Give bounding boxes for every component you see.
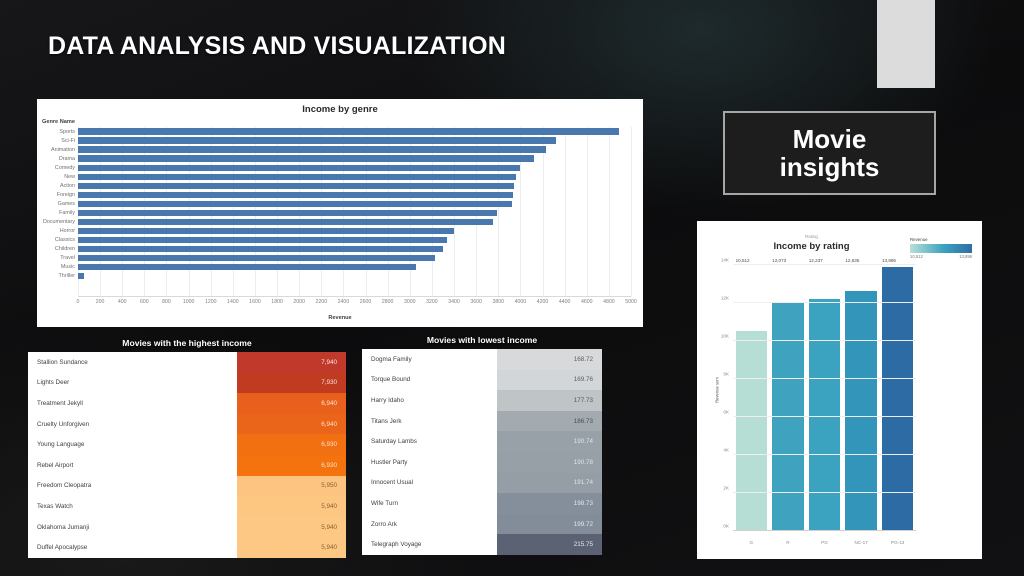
rating-legend-ticks: 10,512 13,896 — [910, 254, 972, 259]
page-title: DATA ANALYSIS AND VISUALIZATION — [48, 32, 506, 61]
genre-bar-row: Horror — [78, 227, 631, 236]
genre-xtick-label: 4600 — [581, 299, 593, 305]
genre-xtick-label: 600 — [140, 299, 149, 305]
table-cell-title: Freedom Cleopatra — [28, 476, 237, 497]
table-row: Telegraph Voyage215.75 — [362, 534, 602, 555]
genre-bar — [78, 137, 556, 143]
genre-category-label: Comedy — [55, 165, 75, 171]
genre-xtick-label: 2400 — [338, 299, 350, 305]
genre-category-label: Music — [61, 264, 75, 270]
rating-gridline — [733, 378, 916, 379]
table-cell-title: Cruelty Unforgiven — [28, 414, 237, 435]
table-cell-value: 7,940 — [237, 352, 346, 373]
genre-category-label: Drama — [59, 156, 75, 162]
genre-xaxis-ticks: 0200400600800100012001400160018002000220… — [78, 299, 631, 309]
genre-xtick-label: 400 — [118, 299, 127, 305]
table-cell-value: 198.73 — [497, 493, 602, 514]
table-cell-value: 186.73 — [497, 411, 602, 432]
genre-bar-row: Classics — [78, 236, 631, 245]
slide-canvas: DATA ANALYSIS AND VISUALIZATION Movie in… — [0, 0, 1024, 576]
table-row: Freedom Cleopatra5,950 — [28, 476, 346, 497]
rating-yaxis-label: Revenue sum — [714, 377, 719, 403]
movie-insights-callout: Movie insights — [723, 111, 936, 195]
rating-bar-value-label: 12,237 — [809, 258, 823, 263]
genre-bar — [78, 246, 443, 252]
genre-xtick-label: 3600 — [470, 299, 482, 305]
rating-ytick-label: 14K — [721, 258, 729, 263]
table-row: Stallion Sundance7,940 — [28, 352, 346, 373]
rating-legend: Revenue 10,512 13,896 — [910, 237, 972, 259]
rating-ytick-label: 2K — [723, 486, 729, 491]
rating-xtick-label: PG — [809, 540, 840, 545]
highest-income-table: Stallion Sundance7,940Lights Deer7,930Tr… — [28, 352, 346, 558]
genre-yaxis-label: Genre Name — [42, 119, 75, 125]
table-cell-title: Telegraph Voyage — [362, 534, 497, 555]
genre-xtick-label: 3800 — [492, 299, 504, 305]
table-cell-value: 5,940 — [237, 517, 346, 538]
table-cell-value: 190.78 — [497, 452, 602, 473]
table-row: Dogma Family168.72 — [362, 349, 602, 370]
table-cell-title: Wife Turn — [362, 493, 497, 514]
genre-bar-row: Family — [78, 208, 631, 217]
genre-category-label: Family — [59, 210, 75, 216]
rating-ytick-label: 12K — [721, 296, 729, 301]
genre-category-label: Animation — [51, 147, 75, 153]
table-cell-value: 5,940 — [237, 496, 346, 517]
rating-legend-gradient — [910, 244, 972, 253]
genre-bar — [78, 264, 416, 270]
genre-category-label: Children — [55, 246, 75, 252]
genre-bar — [78, 165, 520, 171]
genre-xtick-label: 1000 — [183, 299, 195, 305]
rating-ytick-label: 10K — [721, 334, 729, 339]
table-cell-title: Torque Bound — [362, 370, 497, 391]
rating-bar-value-label: 13,896 — [882, 258, 896, 263]
movie-insights-label: Movie insights — [780, 125, 880, 181]
genre-category-label: Thriller — [59, 273, 75, 279]
table-cell-title: Oklahoma Jumanji — [28, 517, 237, 538]
genre-bar-row: Sports — [78, 127, 631, 136]
table-row: Harry Idaho177.73 — [362, 390, 602, 411]
genre-chart-title: Income by genre — [37, 104, 643, 115]
genre-xtick-label: 2600 — [360, 299, 372, 305]
table-row: Innocent Usual191.74 — [362, 473, 602, 494]
genre-xtick-label: 5000 — [625, 299, 637, 305]
table-cell-title: Rebel Airport — [28, 455, 237, 476]
table-row: Texas Watch5,940 — [28, 496, 346, 517]
table-cell-title: Dogma Family — [362, 349, 497, 370]
table-row: Saturday Lambs190.74 — [362, 431, 602, 452]
table-cell-value: 6,930 — [237, 455, 346, 476]
table-row: Young Language6,930 — [28, 434, 346, 455]
genre-category-label: Foreign — [57, 192, 75, 198]
rating-legend-max: 13,896 — [959, 254, 972, 259]
genre-bar-row: Children — [78, 245, 631, 254]
genre-bar — [78, 146, 546, 152]
genre-bar-row: Sci-Fi — [78, 136, 631, 145]
table-cell-title: Duffel Apocalypse — [28, 537, 237, 558]
table-cell-title: Harry Idaho — [362, 390, 497, 411]
table-cell-value: 168.72 — [497, 349, 602, 370]
genre-bar-row: Travel — [78, 254, 631, 263]
genre-category-label: Games — [58, 201, 75, 207]
table-cell-title: Hustler Party — [362, 452, 497, 473]
genre-xtick-label: 3000 — [404, 299, 416, 305]
genre-bar — [78, 174, 516, 180]
genre-category-label: Documentary — [43, 219, 75, 225]
table-cell-value: 199.72 — [497, 514, 602, 535]
genre-bar — [78, 155, 534, 161]
genre-xtick-label: 3400 — [448, 299, 460, 305]
genre-bar — [78, 183, 514, 189]
genre-bar-row: Animation — [78, 145, 631, 154]
rating-ytick-label: 6K — [723, 410, 729, 415]
genre-bar-row: Music — [78, 263, 631, 272]
genre-category-label: Horror — [60, 228, 75, 234]
table-cell-value: 6,940 — [237, 393, 346, 414]
genre-xtick-label: 800 — [162, 299, 171, 305]
genre-bar — [78, 210, 497, 216]
genre-bar-row: Drama — [78, 154, 631, 163]
table-cell-value: 177.73 — [497, 390, 602, 411]
table-cell-title: Zorro Ark — [362, 514, 497, 535]
rating-xtick-label: R — [772, 540, 803, 545]
genre-bar-row: Action — [78, 181, 631, 190]
decorative-rectangle — [877, 0, 935, 88]
genre-axis-baseline — [78, 296, 631, 297]
genre-xtick-label: 1800 — [271, 299, 283, 305]
lowest-income-table: Dogma Family168.72Torque Bound169.76Harr… — [362, 349, 602, 555]
table-cell-value: 6,940 — [237, 414, 346, 435]
genre-xtick-label: 0 — [77, 299, 80, 305]
rating-chart-title: Income by rating — [697, 241, 926, 252]
genre-xtick-label: 200 — [96, 299, 105, 305]
rating-plot-area: 10,51212,07312,23712,63513,896 0K2K4K6K8… — [733, 265, 916, 531]
table-cell-value: 191.74 — [497, 473, 602, 494]
rating-ytick-label: 4K — [723, 448, 729, 453]
table-cell-value: 169.76 — [497, 370, 602, 391]
genre-bar — [78, 255, 435, 261]
genre-xaxis-label: Revenue — [37, 315, 643, 321]
genre-category-label: Action — [60, 183, 75, 189]
genre-bar-row: Thriller — [78, 272, 631, 281]
rating-gridline — [733, 492, 916, 493]
table-cell-title: Treatment Jekyll — [28, 393, 237, 414]
rating-gridline — [733, 340, 916, 341]
rating-axis-baseline — [733, 530, 916, 531]
genre-xtick-label: 2200 — [316, 299, 328, 305]
genre-bar-row: New — [78, 172, 631, 181]
table-row: Duffel Apocalypse5,940 — [28, 537, 346, 558]
table-cell-title: Lights Deer — [28, 373, 237, 394]
table-row: Torque Bound169.76 — [362, 370, 602, 391]
table-cell-title: Titans Jerk — [362, 411, 497, 432]
rating-xtick-label: NC-17 — [845, 540, 876, 545]
rating-legend-title: Revenue — [910, 237, 972, 242]
genre-xtick-label: 1200 — [205, 299, 217, 305]
genre-bar — [78, 237, 447, 243]
table-cell-value: 215.75 — [497, 534, 602, 555]
rating-bar: 12,635 — [845, 291, 876, 531]
income-by-genre-chart: Income by genre Genre Name SportsSci-FiA… — [37, 99, 643, 327]
genre-category-label: Sports — [59, 129, 75, 135]
genre-bar-row: Foreign — [78, 190, 631, 199]
genre-xtick-label: 1400 — [227, 299, 239, 305]
table-cell-value: 6,930 — [237, 434, 346, 455]
genre-bar-row: Comedy — [78, 163, 631, 172]
table-row: Oklahoma Jumanji5,940 — [28, 517, 346, 538]
rating-bar: 10,512 — [736, 331, 767, 531]
rating-gridline — [733, 264, 916, 265]
genre-xtick-label: 4200 — [537, 299, 549, 305]
genre-bars-area: SportsSci-FiAnimationDramaComedyNewActio… — [78, 127, 631, 297]
table-cell-title: Stallion Sundance — [28, 352, 237, 373]
table-row: Wife Turn198.73 — [362, 493, 602, 514]
highest-income-title: Movies with the highest income — [28, 338, 346, 348]
genre-bar-row: Games — [78, 199, 631, 208]
rating-gridline — [733, 416, 916, 417]
genre-bar-row: Documentary — [78, 217, 631, 226]
table-row: Cruelty Unforgiven6,940 — [28, 414, 346, 435]
genre-bar — [78, 273, 84, 279]
table-cell-title: Texas Watch — [28, 496, 237, 517]
genre-category-label: Travel — [60, 255, 75, 261]
table-row: Zorro Ark199.72 — [362, 514, 602, 535]
table-cell-value: 7,930 — [237, 373, 346, 394]
rating-bar-value-label: 12,073 — [772, 258, 786, 263]
table-cell-title: Innocent Usual — [362, 473, 497, 494]
table-row: Treatment Jekyll6,940 — [28, 393, 346, 414]
genre-xtick-label: 2800 — [382, 299, 394, 305]
genre-bar — [78, 228, 454, 234]
rating-gridline — [733, 454, 916, 455]
genre-category-label: New — [64, 174, 75, 180]
table-cell-value: 5,940 — [237, 537, 346, 558]
rating-xaxis-ticks: GRPGNC-17PG-13 — [733, 540, 916, 545]
rating-xtick-label: G — [736, 540, 767, 545]
table-row: Rebel Airport6,930 — [28, 455, 346, 476]
genre-xtick-label: 4800 — [603, 299, 615, 305]
income-by-rating-chart: Rating Income by rating Revenue 10,512 1… — [697, 221, 982, 559]
table-cell-value: 190.74 — [497, 431, 602, 452]
table-row: Titans Jerk186.73 — [362, 411, 602, 432]
genre-gridline — [631, 127, 632, 297]
genre-xtick-label: 4400 — [559, 299, 571, 305]
genre-bar — [78, 128, 619, 134]
genre-xtick-label: 3200 — [426, 299, 438, 305]
rating-xtick-label: PG-13 — [882, 540, 913, 545]
lowest-income-title: Movies with lowest income — [362, 335, 602, 345]
table-row: Hustler Party190.78 — [362, 452, 602, 473]
rating-ytick-label: 8K — [723, 372, 729, 377]
genre-bar — [78, 192, 513, 198]
rating-bar-value-label: 12,635 — [845, 258, 859, 263]
rating-bar: 12,237 — [809, 299, 840, 532]
genre-bar — [78, 201, 512, 207]
table-cell-title: Saturday Lambs — [362, 431, 497, 452]
movies-highest-income-block: Movies with the highest income Stallion … — [28, 338, 346, 558]
table-cell-value: 5,950 — [237, 476, 346, 497]
genre-bar — [78, 219, 493, 225]
table-cell-title: Young Language — [28, 434, 237, 455]
genre-category-label: Classics — [55, 237, 75, 243]
rating-chart-subtitle: Rating — [697, 234, 926, 239]
rating-legend-min: 10,512 — [910, 254, 923, 259]
movies-lowest-income-block: Movies with lowest income Dogma Family16… — [362, 335, 602, 555]
table-row: Lights Deer7,930 — [28, 373, 346, 394]
genre-xtick-label: 1600 — [249, 299, 261, 305]
genre-xtick-label: 4000 — [515, 299, 527, 305]
genre-category-label: Sci-Fi — [61, 138, 75, 144]
rating-ytick-label: 0K — [723, 524, 729, 529]
genre-xtick-label: 2000 — [293, 299, 305, 305]
rating-gridline — [733, 302, 916, 303]
rating-bar-value-label: 10,512 — [736, 258, 750, 263]
